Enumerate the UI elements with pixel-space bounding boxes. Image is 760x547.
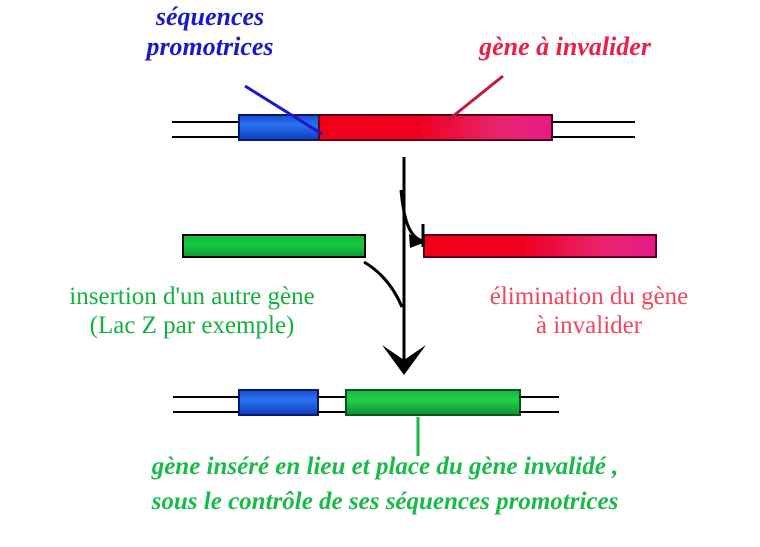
donor-gene-box-row2 bbox=[182, 234, 366, 258]
label-insertion-line2: (Lac Z par exemple) bbox=[90, 312, 295, 339]
branch-curve-elimination bbox=[401, 190, 423, 241]
strand-right-lower-row1 bbox=[551, 136, 635, 138]
strand-left-lower-row1 bbox=[172, 136, 240, 138]
label-elimination-line2: à invalider bbox=[536, 312, 642, 339]
label-result: gène inséré en lieu et place du gène inv… bbox=[30, 452, 740, 516]
label-promoter-sequences-line1: séquences bbox=[156, 2, 264, 31]
label-insertion: insertion d'un autre gène (Lac Z par exe… bbox=[2, 282, 382, 340]
label-result-line2: sous le contrôle de ses séquences promot… bbox=[30, 487, 740, 516]
strand-right-lower-row3 bbox=[519, 411, 559, 413]
strand-left-upper-row1 bbox=[172, 121, 240, 123]
promoter-box-row3 bbox=[238, 389, 319, 416]
strand-right-upper-row3 bbox=[519, 396, 559, 398]
strand-right-upper-row1 bbox=[551, 121, 635, 123]
strand-mid-upper-row3 bbox=[317, 396, 347, 398]
strand-mid-lower-row3 bbox=[317, 411, 347, 413]
label-gene-to-invalidate: gène à invalider bbox=[420, 32, 710, 62]
label-promoter-sequences: séquences promotrices bbox=[100, 2, 320, 62]
target-gene-box-row1 bbox=[318, 114, 553, 141]
inserted-gene-box-row3 bbox=[345, 389, 521, 416]
main-process-arrow-head bbox=[382, 345, 426, 375]
excised-gene-box-row2 bbox=[423, 234, 657, 258]
strand-left-lower-row3 bbox=[173, 411, 240, 413]
promoter-box-row1 bbox=[238, 114, 320, 141]
label-gene-to-invalidate-text: gène à invalider bbox=[479, 32, 651, 61]
label-insertion-line1: insertion d'un autre gène bbox=[69, 283, 314, 310]
label-elimination: élimination du gène à invalider bbox=[424, 282, 754, 340]
label-result-line1: gène inséré en lieu et place du gène inv… bbox=[152, 453, 619, 480]
strand-left-upper-row3 bbox=[173, 396, 240, 398]
label-elimination-line1: élimination du gène bbox=[490, 283, 689, 310]
label-promoter-sequences-line2: promotrices bbox=[146, 32, 273, 61]
knockout-diagram: séquences promotrices gène à invalider i… bbox=[0, 0, 760, 547]
